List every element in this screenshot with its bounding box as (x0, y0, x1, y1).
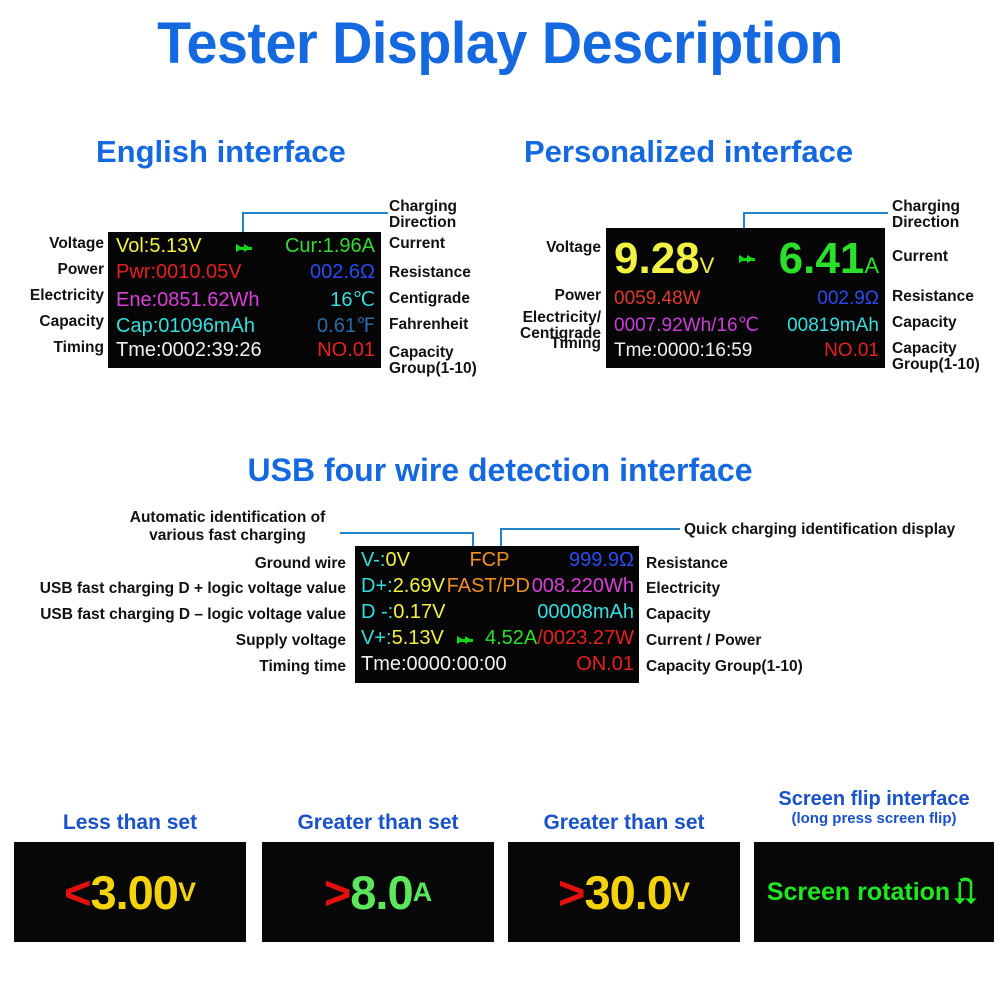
usb-leader-left-horizontal (340, 532, 474, 534)
charging-direction-arrow-icon (739, 255, 754, 263)
label-resistance: Resistance (389, 262, 477, 291)
rotate-flip-icon (951, 877, 981, 907)
english-charging-leader-vertical (242, 212, 244, 234)
english-left-labels: Voltage Power Electricity Capacity Timin… (20, 236, 104, 366)
label-current: Current (389, 231, 477, 262)
english-fahrenheit-value: 0.61℉ (317, 313, 375, 338)
usb-row-vplus: V+:5.13V 4.52A/0023.27W (361, 627, 634, 653)
personalized-voltage-unit: V (700, 253, 715, 278)
personalized-voltage: 9.28V (614, 234, 714, 284)
personalized-left-labels: Voltage Power Electricity/ Centigrade Ti… (505, 240, 601, 358)
label-fahrenheit: Fahrenheit (389, 317, 477, 343)
warning-value: 8.0 (350, 865, 412, 920)
english-right-labels: Charging Direction Current Resistance Ce… (389, 199, 477, 377)
warning-symbol: < (64, 865, 90, 920)
english-power-value: Pwr:0010.05V (116, 261, 242, 284)
english-capacity-value: Cap:01096mAh (116, 315, 255, 338)
label-electricity-centigrade: Electricity/ Centigrade (505, 310, 601, 336)
personalized-current: 6.41A (779, 234, 879, 284)
label-capacity: Capacity (892, 315, 980, 341)
label-capacity: Capacity (20, 314, 104, 340)
label-power: Power (20, 262, 104, 288)
personalized-current-value: 6.41 (779, 234, 865, 283)
label-centigrade: Centigrade (389, 291, 477, 317)
warning-value: 3.00 (90, 865, 177, 920)
label-voltage: Voltage (20, 236, 104, 262)
label-capacity: Capacity (646, 607, 803, 633)
personalized-row-power-resistance: 0059.48W 002.9Ω (614, 288, 879, 314)
usb-fcp-value: FCP (469, 549, 509, 572)
personalized-timing-value: Tme:0000:16:59 (614, 340, 752, 362)
usb-callout-quick-charging: Quick charging identification display (684, 522, 955, 538)
usb-current-power: 4.52A/0023.27W (485, 627, 634, 650)
label-timing-time: Timing time (0, 659, 346, 685)
usb-fastpd-value: FAST/PD (447, 575, 530, 598)
usb-leader-right-horizontal (500, 528, 680, 530)
english-lcd-screen: Vol:5.13V Cur:1.96A Pwr:0010.05V 002.6Ω … (108, 232, 381, 368)
personalized-charging-leader-horizontal (743, 212, 888, 214)
label-ground-wire: Ground wire (0, 556, 346, 581)
warning-unit: V (178, 877, 196, 908)
warning-symbol: > (324, 865, 350, 920)
screen-rotation-text: Screen rotation (767, 878, 950, 907)
label-supply-voltage: Supply voltage (0, 633, 346, 659)
warning-lcd-high-voltage: >30.0V (508, 842, 740, 942)
label-timing: Timing (20, 340, 104, 366)
label-electricity: Electricity (20, 288, 104, 314)
usb-energy-value: 008.220Wh (532, 575, 634, 598)
english-centigrade-value: 16℃ (330, 287, 375, 312)
label-resistance: Resistance (892, 275, 980, 315)
english-row-voltage-current: Vol:5.13V Cur:1.96A (116, 235, 375, 261)
charging-direction-arrow-icon (236, 244, 251, 252)
usb-interface-title: USB four wire detection interface (0, 452, 1000, 489)
usb-row-dminus: D -:0.17V 00008mAh (361, 601, 634, 627)
english-voltage-value: Vol:5.13V (116, 235, 202, 258)
page-title: Tester Display Description (20, 10, 980, 77)
personalized-right-labels: Charging Direction Current Resistance Ca… (892, 199, 980, 373)
screen-flip-title: Screen flip interface (754, 789, 994, 811)
english-resistance-value: 002.6Ω (310, 261, 375, 284)
label-resistance: Resistance (646, 556, 803, 581)
warning-value: 30.0 (584, 865, 671, 920)
screen-flip-card: Screen flip interface (long press screen… (754, 789, 994, 827)
charging-direction-arrow-icon (457, 636, 472, 644)
personalized-capacity-value: 00819mAh (787, 315, 879, 337)
usb-group-value: ON.01 (576, 653, 634, 676)
english-row-timing-group: Tme:0002:39:26 NO.01 (116, 339, 375, 365)
screen-flip-lcd: Screen rotation (754, 842, 994, 942)
label-charging-direction: Charging Direction (389, 199, 477, 231)
english-energy-value: Ene:0851.62Wh (116, 289, 259, 312)
english-timing-value: Tme:0002:39:26 (116, 339, 262, 362)
usb-power-value: /0023.27W (537, 627, 634, 649)
personalized-lcd-screen: 9.28V 6.41A 0059.48W 002.9Ω 0007.92Wh/16… (606, 228, 885, 368)
label-dplus-logic-voltage: USB fast charging D + logic voltage valu… (0, 581, 346, 607)
label-capacity-group: Capacity Group(1-10) (389, 343, 477, 377)
personalized-energy-temp-value: 0007.92Wh/16℃ (614, 314, 759, 337)
personalized-power-value: 0059.48W (614, 288, 701, 310)
english-group-value: NO.01 (317, 339, 375, 362)
usb-row-vminus: V-:0V FCP 999.9Ω (361, 549, 634, 575)
english-interface-title: English interface (96, 134, 346, 170)
warning-lcd-low-voltage: <3.00V (14, 842, 246, 942)
label-electricity: Electricity (646, 581, 803, 607)
label-capacity-group: Capacity Group(1-10) (646, 659, 803, 685)
usb-vminus: V-:0V (361, 549, 410, 572)
personalized-current-unit: A (864, 253, 879, 278)
personalized-row-energy-capacity: 0007.92Wh/16℃ 00819mAh (614, 314, 879, 340)
usb-timing-value: Tme:0000:00:00 (361, 653, 507, 676)
label-charging-direction: Charging Direction (892, 199, 980, 231)
warning-symbol: > (558, 865, 584, 920)
label-dminus-logic-voltage: USB fast charging D – logic voltage valu… (0, 607, 346, 633)
warning-unit: A (413, 877, 433, 908)
label-current-power: Current / Power (646, 633, 803, 659)
english-row-capacity-fahrenheit: Cap:01096mAh 0.61℉ (116, 313, 375, 339)
label-current: Current (892, 231, 980, 275)
personalized-group-value: NO.01 (824, 340, 879, 362)
personalized-row-timing-group: Tme:0000:16:59 NO.01 (614, 340, 879, 366)
usb-lcd-screen: V-:0V FCP 999.9Ω D+:2.69V FAST/PD 008.22… (355, 546, 639, 683)
usb-row-timing: Tme:0000:00:00 ON.01 (361, 653, 634, 679)
label-power: Power (505, 288, 601, 310)
usb-left-labels: Ground wire USB fast charging D + logic … (0, 556, 346, 685)
label-voltage: Voltage (505, 240, 601, 288)
warning-lcd-high-current: >8.0A (262, 842, 494, 942)
usb-callout-fast-charging: Automatic identification of various fast… (115, 509, 340, 544)
usb-vplus: V+:5.13V (361, 627, 444, 650)
usb-resistance-value: 999.9Ω (569, 549, 634, 572)
warning-unit: V (672, 877, 690, 908)
english-charging-leader-horizontal (242, 212, 388, 214)
usb-capacity-value: 00008mAh (537, 601, 634, 624)
english-current-value: Cur:1.96A (285, 235, 375, 258)
usb-current-value: 4.52A (485, 627, 537, 649)
usb-right-labels: Resistance Electricity Capacity Current … (646, 556, 803, 685)
usb-dminus: D -:0.17V (361, 601, 445, 624)
personalized-resistance-value: 002.9Ω (817, 288, 879, 310)
label-capacity-group: Capacity Group(1-10) (892, 341, 980, 373)
english-row-power-resistance: Pwr:0010.05V 002.6Ω (116, 261, 375, 287)
personalized-voltage-value: 9.28 (614, 234, 700, 283)
usb-row-dplus: D+:2.69V FAST/PD 008.220Wh (361, 575, 634, 601)
english-row-energy-centigrade: Ene:0851.62Wh 16℃ (116, 287, 375, 313)
usb-dplus: D+:2.69V (361, 575, 445, 598)
personalized-row-voltage-current: 9.28V 6.41A (614, 230, 879, 288)
personalized-interface-title: Personalized interface (524, 134, 853, 170)
screen-flip-subtitle: (long press screen flip) (754, 811, 994, 828)
